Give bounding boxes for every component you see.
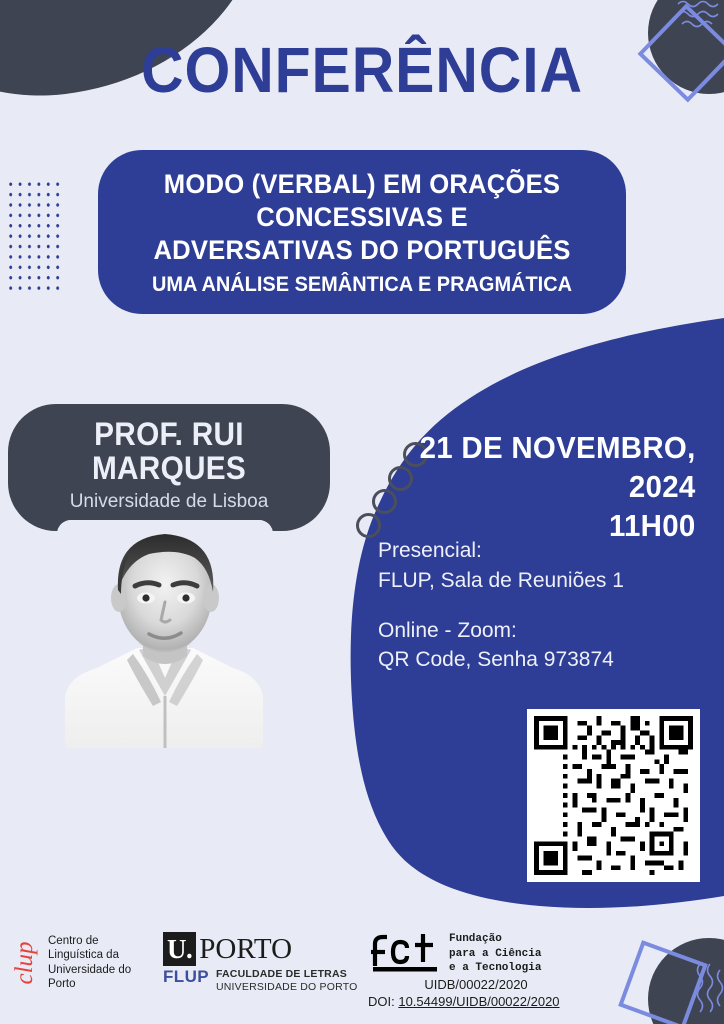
fct-doi-line: DOI: 10.54499/UIDB/00022/2020 <box>368 994 641 1009</box>
fct-foundation-text: Fundação para a Ciência e a Tecnologia <box>449 932 541 976</box>
in-person-value: FLUP, Sala de Reuniões 1 <box>378 566 708 596</box>
event-details: Presencial: FLUP, Sala de Reuniões 1 Onl… <box>378 536 708 675</box>
flup-faculty-line-2: UNIVERSIDADE DO PORTO <box>216 981 358 994</box>
doi-link[interactable]: 10.54499/UIDB/00022/2020 <box>398 994 559 1009</box>
conference-title-badge: MODO (VERBAL) EM ORAÇÕES CONCESSIVAS E A… <box>98 150 626 314</box>
qr-code-image <box>534 716 693 875</box>
flup-wordmark: FLUP FACULDADE DE LETRAS UNIVERSIDADE DO… <box>163 968 358 993</box>
footer-logos: clup Centro de Linguística da Universida… <box>0 926 724 1024</box>
uporto-porto-text: PORTO <box>199 932 292 966</box>
fct-mark-icon <box>371 932 441 972</box>
in-person-group: Presencial: FLUP, Sala de Reuniões 1 <box>378 536 708 596</box>
uporto-u-mark: U. <box>163 932 196 966</box>
fct-logo: Fundação para a Ciência e a Tecnologia U… <box>371 932 641 1009</box>
clup-logo-text: Centro de Linguística da Universidade do… <box>48 934 131 992</box>
svg-text:clup: clup <box>11 941 38 984</box>
zoom-meeting-qr-code[interactable] <box>527 709 700 882</box>
fct-text-line-3: e a Tecnologia <box>449 961 541 976</box>
fct-logo-row: Fundação para a Ciência e a Tecnologia <box>371 932 641 976</box>
conference-title-line-2: ADVERSATIVAS DO PORTUGUÊS <box>130 234 594 267</box>
speaker-name: PROF. RUI MARQUES <box>36 418 302 485</box>
online-value: QR Code, Senha 973874 <box>378 645 708 675</box>
online-label: Online - Zoom: <box>378 616 708 646</box>
clup-script-mark-icon: clup <box>8 932 46 994</box>
uporto-wordmark: U. PORTO <box>163 932 358 966</box>
online-group: Online - Zoom: QR Code, Senha 973874 <box>378 616 708 676</box>
event-date: 21 DE NOVEMBRO, 2024 <box>374 428 695 506</box>
doi-label: DOI: <box>368 994 398 1009</box>
flup-mark-text: FLUP <box>163 968 209 986</box>
uporto-flup-logo: U. PORTO FLUP FACULDADE DE LETRAS UNIVER… <box>163 932 358 994</box>
conference-subtitle: UMA ANÁLISE SEMÂNTICA E PRAGMÁTICA <box>130 271 594 298</box>
event-datetime: 21 DE NOVEMBRO, 2024 11H00 <box>374 428 695 545</box>
clup-text-line-2: Linguística da <box>48 948 131 962</box>
speaker-affiliation: Universidade de Lisboa <box>26 490 312 515</box>
flup-faculty-line-1: FACULDADE DE LETRAS <box>216 968 358 981</box>
in-person-label: Presencial: <box>378 536 708 566</box>
clup-text-line-1: Centro de <box>48 934 131 948</box>
fct-text-line-1: Fundação <box>449 932 541 947</box>
conference-title-line-1: MODO (VERBAL) EM ORAÇÕES CONCESSIVAS E <box>130 168 594 234</box>
fct-uidb-code: UIDB/00022/2020 <box>376 977 576 992</box>
speaker-badge: PROF. RUI MARQUES Universidade de Lisboa <box>8 404 330 531</box>
flup-faculty-text: FACULDADE DE LETRAS UNIVERSIDADE DO PORT… <box>216 968 358 993</box>
fct-text-line-2: para a Ciência <box>449 947 541 962</box>
clup-logo: clup Centro de Linguística da Universida… <box>8 932 158 994</box>
conference-poster: CONFERÊNCIA MODO (VERBAL) EM ORAÇÕES CON… <box>0 0 724 1024</box>
speaker-photo <box>57 520 273 748</box>
dot-grid-decoration <box>5 178 63 290</box>
clup-text-line-4: Porto <box>48 977 131 991</box>
page-title: CONFERÊNCIA <box>29 38 695 102</box>
clup-text-line-3: Universidade do <box>48 963 131 977</box>
